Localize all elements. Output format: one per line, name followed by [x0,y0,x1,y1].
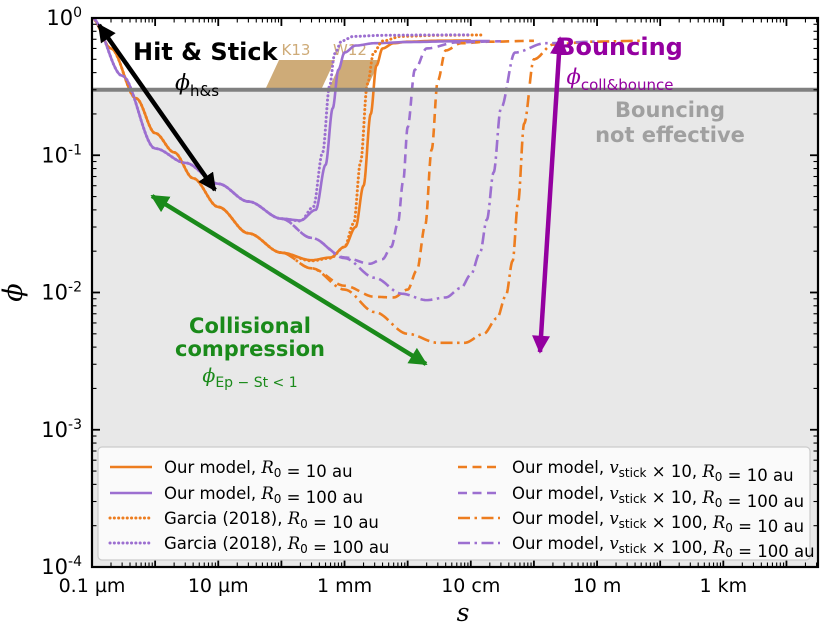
x-tick-label-5: 1 km [700,575,748,597]
x-tick-label-0: 0.1 µm [59,575,126,597]
x-tick-label-3: 10 cm [441,575,500,597]
collisional-line-2: compression [175,337,325,361]
y-tick-label-2: 10-2 [41,280,82,305]
hit-stick-title: Hit & Stick [133,38,279,66]
not-effective-line-1: Bouncing [615,98,725,122]
collisional-line-1: Collisional [189,314,311,338]
x-axis-label: s [457,598,470,625]
y-axis-label: ϕ [0,283,29,301]
y-tick-label-1: 10-1 [41,142,82,167]
y-tick-label-3: 10-3 [41,417,82,442]
bouncing-title: Bouncing [557,33,683,61]
y-tick-label-0: 100 [46,5,82,30]
figure-root: K13W12Hit & Stickϕh&sBouncingϕcoll&bounc… [0,0,831,625]
reference-box-label-k13: K13 [282,41,311,59]
not-effective-line-2: not effective [595,123,745,147]
x-tick-label-4: 10 m [573,575,622,597]
x-tick-label-1: 10 µm [188,575,249,597]
x-tick-label-2: 1 mm [317,575,372,597]
plot-canvas: K13W12Hit & Stickϕh&sBouncingϕcoll&bounc… [0,0,831,625]
